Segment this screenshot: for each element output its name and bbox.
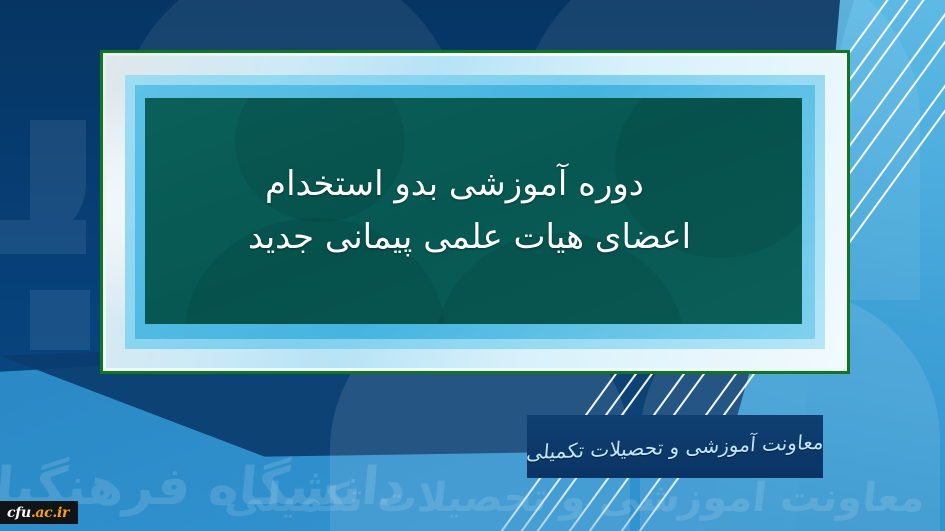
title-frame: دوره آموزشی بدو استخدام اعضای هیات علمی … — [100, 50, 850, 374]
website-url-chip[interactable]: cfu .ac.ir — [0, 501, 78, 524]
url-name-part: cfu — [7, 505, 31, 521]
presentation-slide: دانشگاه فرهنگیان معاونت آموزشی و تحصیلات… — [0, 0, 945, 531]
title-board-inner: دوره آموزشی بدو استخدام اعضای هیات علمی … — [145, 98, 802, 324]
slide-title-line-2: اعضای هیات علمی پیمانی جدید — [153, 211, 786, 264]
department-banner: معاونت آموزشی و تحصیلات تکمیلی — [527, 415, 823, 478]
slide-title-block: دوره آموزشی بدو استخدام اعضای هیات علمی … — [145, 158, 802, 263]
department-banner-text: معاونت آموزشی و تحصیلات تکمیلی — [525, 429, 824, 463]
url-domain-part: .ac.ir — [31, 505, 69, 521]
slide-title-line-1: دوره آموزشی بدو استخدام — [153, 158, 786, 211]
